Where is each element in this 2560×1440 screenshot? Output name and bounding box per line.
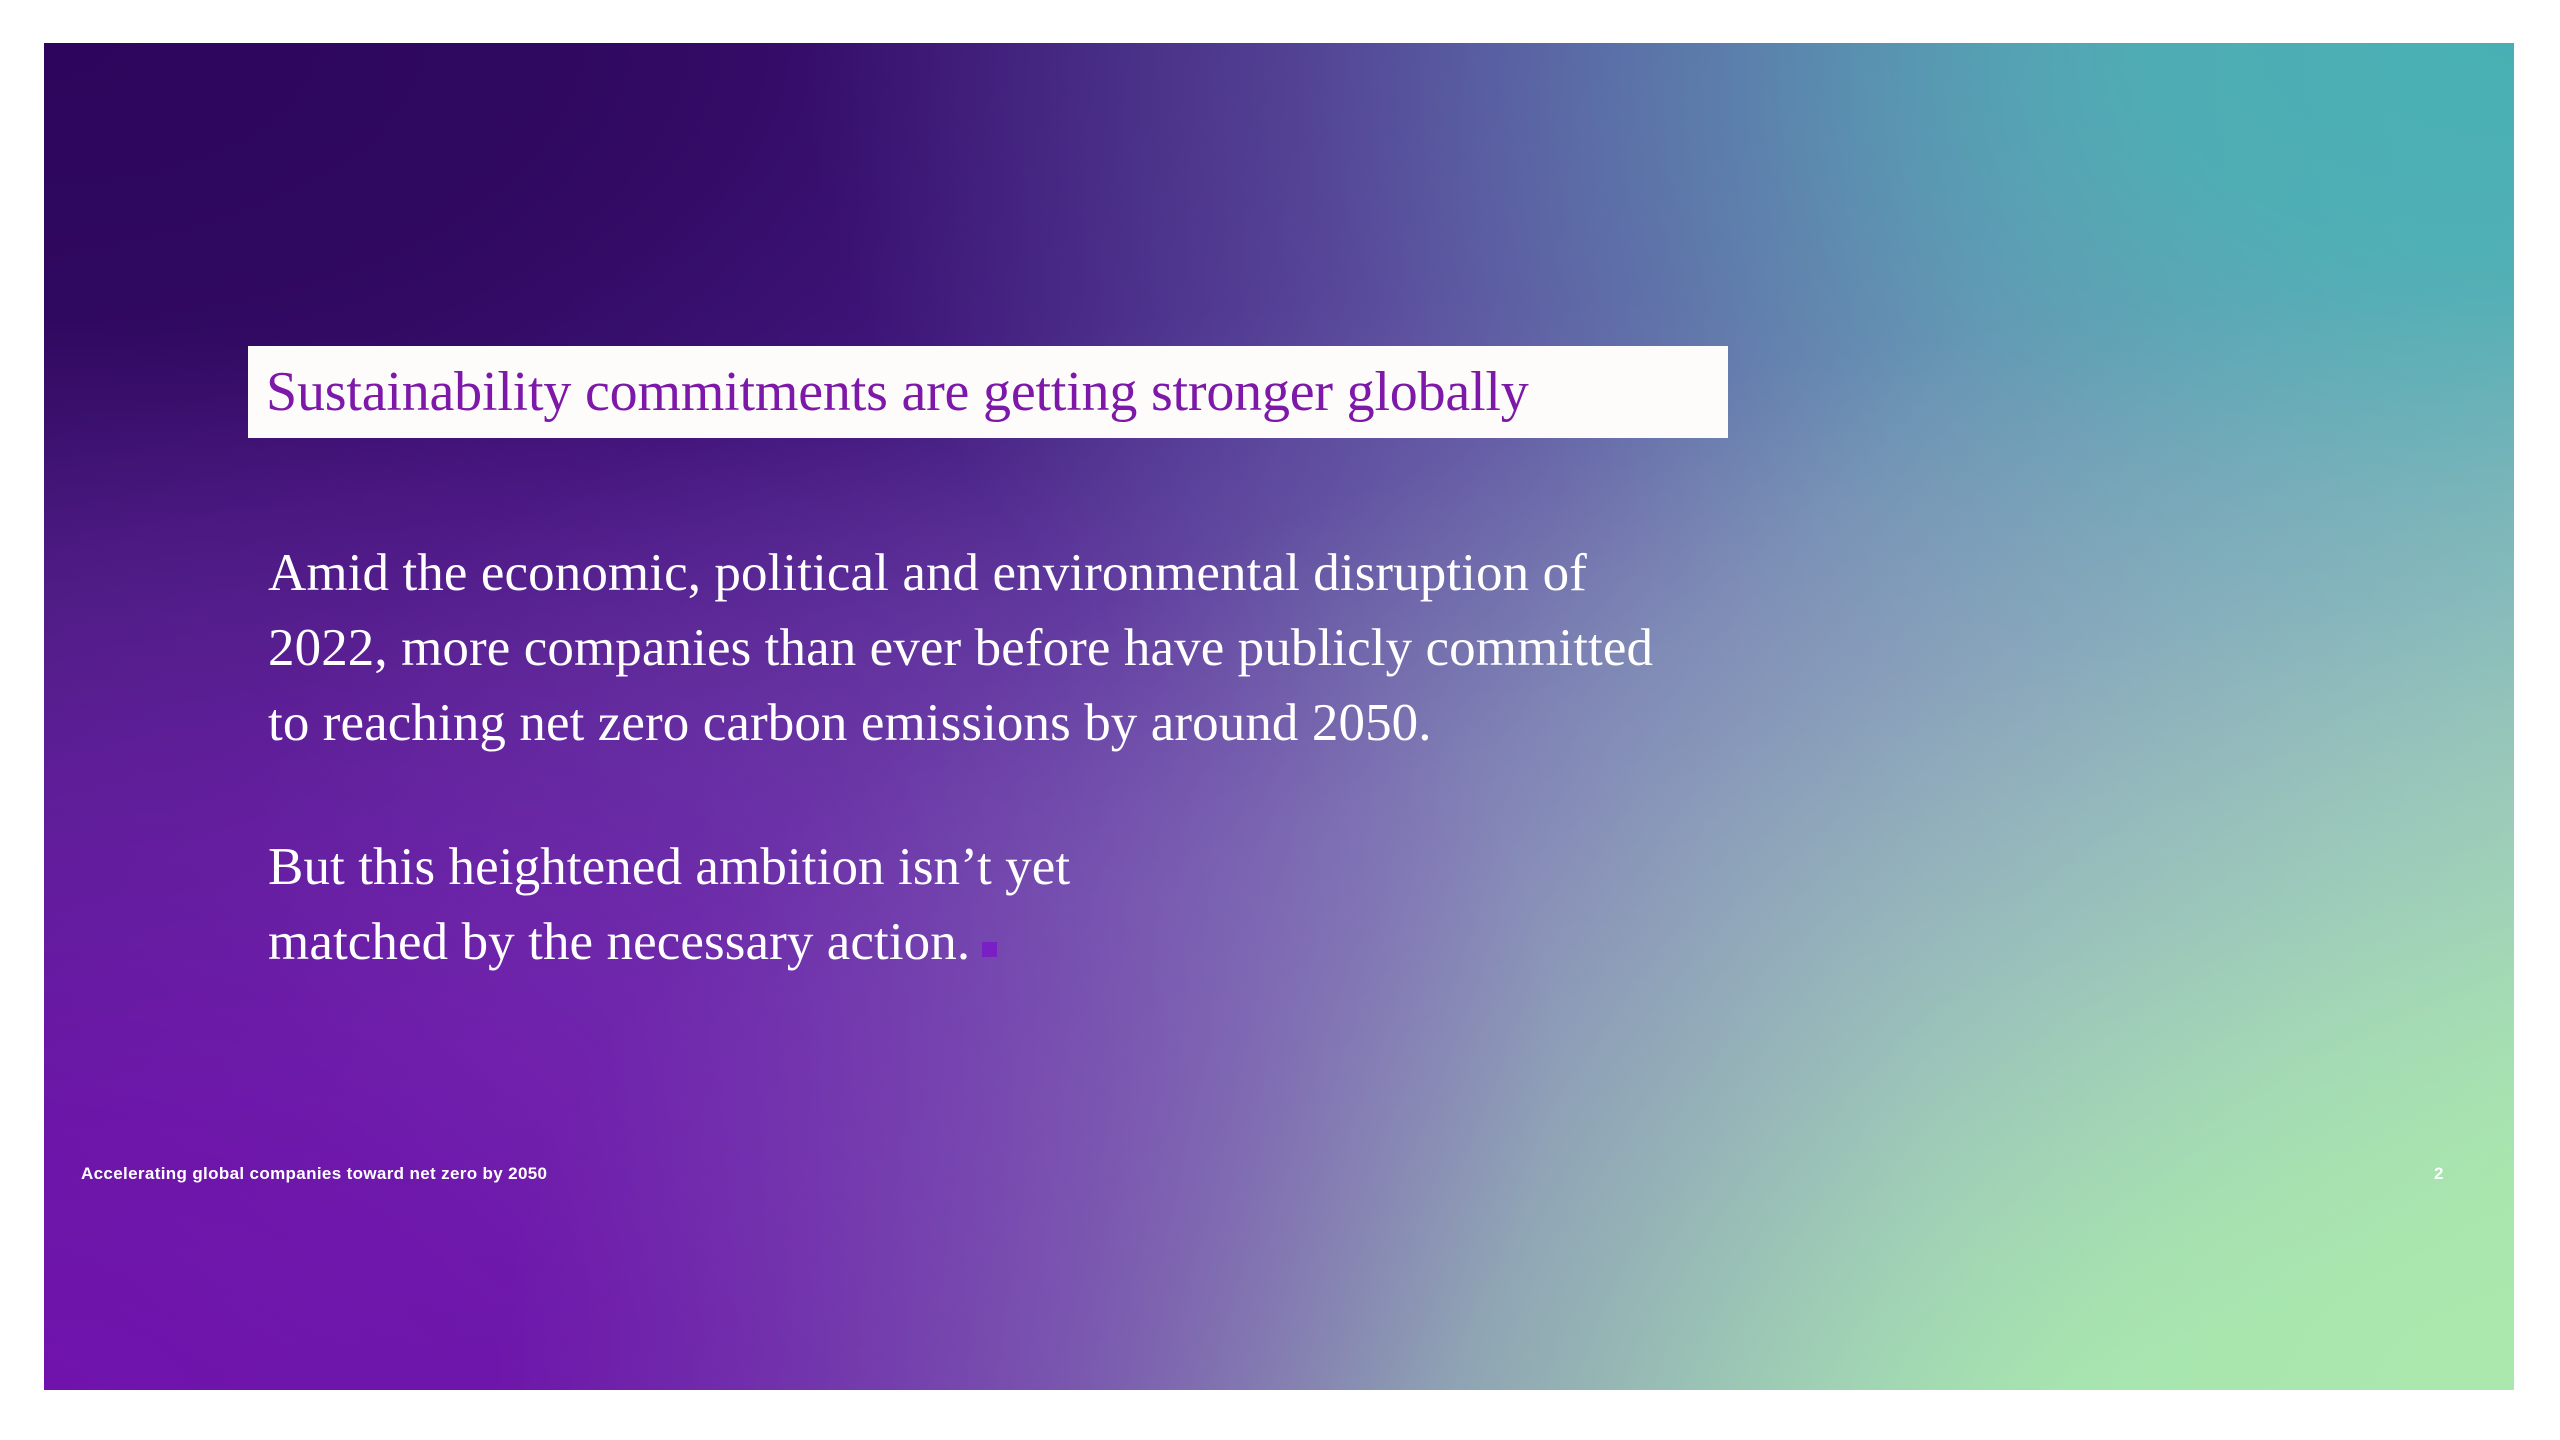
title-banner: Sustainability commitments are getting s… bbox=[248, 346, 1728, 438]
footer-deck-title: Accelerating global companies toward net… bbox=[81, 1164, 547, 1184]
page-number: 2 bbox=[2434, 1164, 2474, 1184]
body-paragraph-secondary: But this heightened ambition isn’t yet m… bbox=[268, 830, 1468, 980]
presentation-slide: Sustainability commitments are getting s… bbox=[44, 43, 2514, 1390]
body-paragraph-primary: Amid the economic, political and environ… bbox=[268, 536, 1988, 761]
accent-square-icon bbox=[982, 942, 997, 957]
slide-title: Sustainability commitments are getting s… bbox=[248, 364, 1529, 420]
body-paragraph-secondary-text: But this heightened ambition isn’t yet m… bbox=[268, 838, 1070, 971]
screenshot-canvas: Sustainability commitments are getting s… bbox=[0, 0, 2560, 1440]
